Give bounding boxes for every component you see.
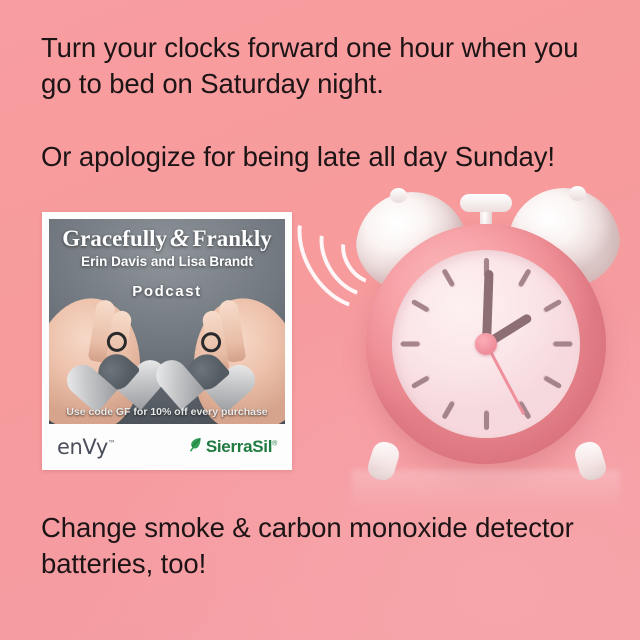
podcast-title-part2: Frankly <box>192 226 271 251</box>
clock-tick <box>553 342 572 347</box>
pendant-bail <box>200 332 221 353</box>
promo-code-text: Use code GF for 10% off every purchase <box>49 406 285 418</box>
surface-reflection <box>352 470 620 510</box>
pendant-cutout <box>181 347 230 396</box>
bell-nub <box>390 188 407 203</box>
sponsor-logo-bar: enVy™ SierraSil® <box>49 424 285 470</box>
heart-pendant-icon <box>83 340 149 404</box>
clock-tick <box>441 268 455 287</box>
sierrasil-logo: SierraSil® <box>186 436 277 458</box>
clock-tick <box>441 401 455 420</box>
clock-center-hub <box>475 333 497 355</box>
clock-tick <box>410 375 429 389</box>
clock-tick <box>410 299 429 313</box>
sierrasil-name: SierraSil <box>206 437 272 456</box>
pendant-cutout <box>91 347 140 396</box>
headline-text: Turn your clocks forward one hour when y… <box>41 30 611 102</box>
footer-text: Change smoke & carbon monoxide detector … <box>41 510 611 582</box>
subheadline-text: Or apologize for being late all day Sund… <box>41 139 611 175</box>
podcast-format-label: Podcast <box>49 283 285 300</box>
podcast-promo-card: Gracefully&Frankly Erin Davis and Lisa B… <box>42 212 292 470</box>
clock-tick <box>484 411 489 430</box>
bell-nub <box>569 186 586 201</box>
podcast-hosts: Erin Davis and Lisa Brandt <box>49 254 285 269</box>
envy-logo: enVy™ <box>57 435 115 459</box>
poster-canvas: Turn your clocks forward one hour when y… <box>0 0 640 640</box>
pendant-bail <box>106 331 127 352</box>
ampersand-glyph: & <box>167 225 192 252</box>
alarm-clock-illustration <box>352 186 620 486</box>
leaf-icon <box>186 436 203 458</box>
clock-tick <box>543 375 562 389</box>
envy-trademark-icon: ™ <box>108 439 116 448</box>
clock-tick <box>543 299 562 313</box>
sierrasil-trademark-icon: ® <box>272 440 277 447</box>
podcast-title: Gracefully&Frankly <box>49 225 285 253</box>
clock-case <box>366 224 606 464</box>
clock-face <box>392 250 580 438</box>
sierrasil-logo-text: SierraSil® <box>206 437 277 457</box>
envy-logo-text: enVy <box>57 435 108 459</box>
heart-pendant-icon <box>173 340 239 404</box>
second-hand <box>485 343 525 415</box>
clock-tick <box>517 268 531 287</box>
alarm-button <box>460 194 512 212</box>
podcast-cover-photo: Gracefully&Frankly Erin Davis and Lisa B… <box>49 219 285 424</box>
podcast-title-part1: Gracefully <box>62 226 167 251</box>
clock-tick <box>400 342 419 347</box>
